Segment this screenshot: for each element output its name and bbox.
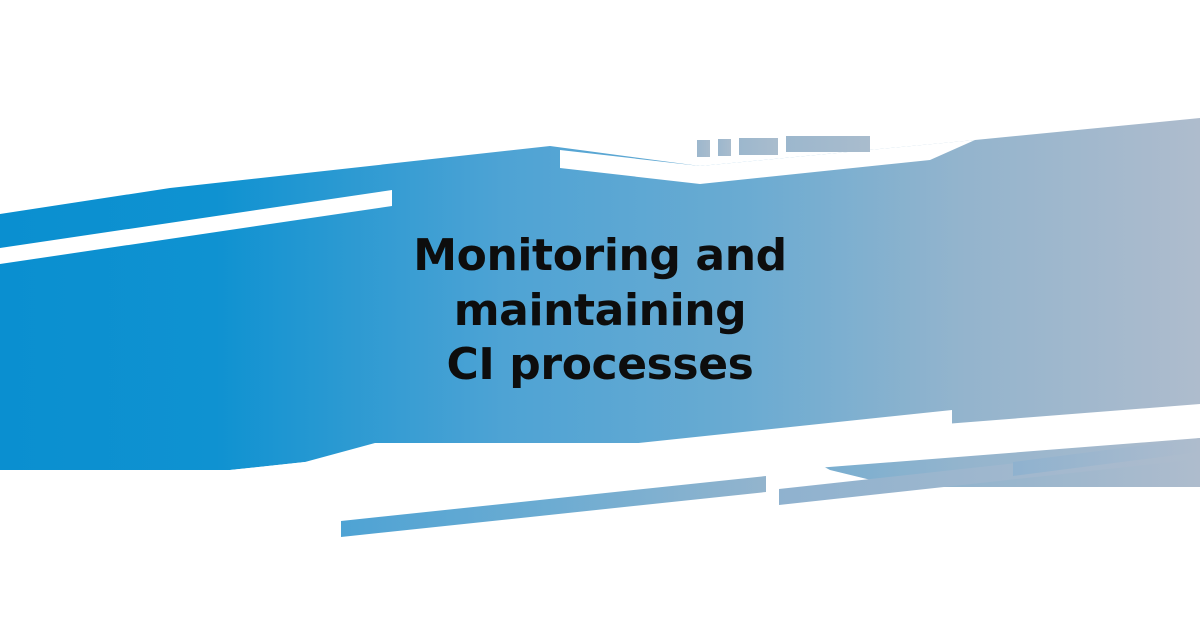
decorative-background-art: [0, 0, 1200, 630]
dash-3: [739, 138, 778, 155]
dash-4: [786, 136, 870, 152]
banner-canvas: Monitoring and maintaining CI processes: [0, 0, 1200, 630]
dash-2: [718, 139, 731, 156]
dash-1: [697, 140, 710, 157]
